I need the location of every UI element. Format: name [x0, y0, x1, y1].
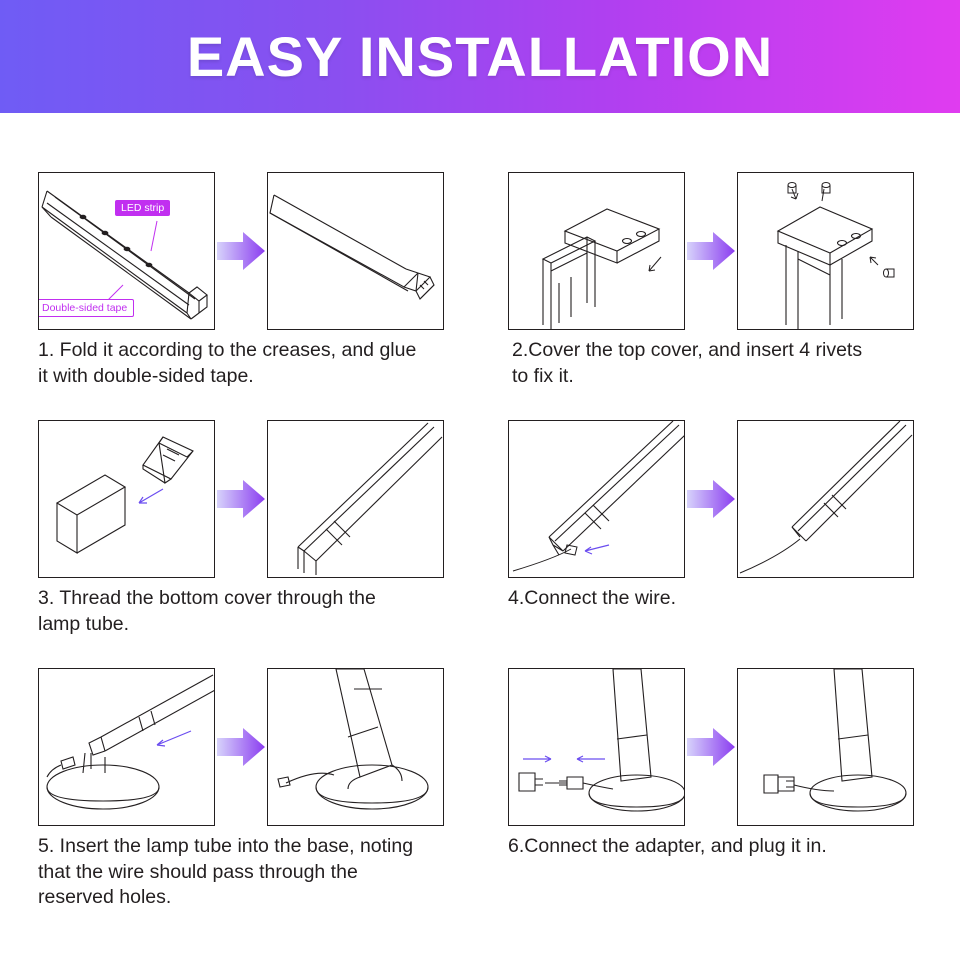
- step-6-image-after: [737, 668, 914, 826]
- step-2-panels: [508, 172, 928, 330]
- step-1-image-after: [267, 172, 444, 330]
- step-4-panels: [508, 420, 928, 578]
- step-5-panels: [38, 668, 458, 826]
- step-1-caption: 1. Fold it according to the creases, and…: [38, 338, 458, 389]
- step-6-arrow: [685, 668, 737, 826]
- step-4-caption: 4.Connect the wire.: [508, 586, 928, 612]
- step-3-image-after: [267, 420, 444, 578]
- steps-grid: LED strip Double-sided tape: [0, 113, 960, 960]
- step-4-arrow: [685, 420, 737, 578]
- step-3-arrow: [215, 420, 267, 578]
- step-5-image-before: [38, 668, 215, 826]
- step-1-image-before: LED strip Double-sided tape: [38, 172, 215, 330]
- wire-insert-illustration: [509, 421, 684, 577]
- step-2-arrow: [685, 172, 737, 330]
- assembled-channel-illustration: [268, 173, 443, 329]
- page-title: EASY INSTALLATION: [187, 24, 773, 89]
- step-5-image-after: [267, 668, 444, 826]
- step-5-arrow: [215, 668, 267, 826]
- step-6-panels: [508, 668, 928, 826]
- step-2-image-after: [737, 172, 914, 330]
- top-cover-illustration: [509, 173, 684, 329]
- wire-connected-illustration: [738, 421, 913, 577]
- step-1: LED strip Double-sided tape: [38, 172, 458, 389]
- step-4-image-after: [737, 420, 914, 578]
- step-3-image-before: [38, 420, 215, 578]
- adapter-connect-illustration: [509, 669, 684, 825]
- arrow-right-icon: [685, 478, 737, 520]
- plugged-in-illustration: [738, 669, 913, 825]
- arrow-right-icon: [215, 230, 267, 272]
- step-1-arrow: [215, 172, 267, 330]
- installation-guide-page: EASY INSTALLATION: [0, 0, 960, 960]
- arrow-right-icon: [215, 478, 267, 520]
- step-2-image-before: [508, 172, 685, 330]
- bottom-cover-illustration: [39, 421, 214, 577]
- step-6: 6.Connect the adapter, and plug it in.: [508, 668, 928, 860]
- arrow-right-icon: [685, 230, 737, 272]
- step-5-caption: 5. Insert the lamp tube into the base, n…: [38, 834, 458, 911]
- arrow-right-icon: [685, 726, 737, 768]
- assembled-lamp-illustration: [268, 669, 443, 825]
- step-6-image-before: [508, 668, 685, 826]
- led-strip-label: LED strip: [115, 200, 170, 216]
- step-3: 3. Thread the bottom cover through the l…: [38, 420, 458, 637]
- header-banner: EASY INSTALLATION: [0, 0, 960, 113]
- step-4-image-before: [508, 420, 685, 578]
- step-6-caption: 6.Connect the adapter, and plug it in.: [508, 834, 928, 860]
- step-2: 2.Cover the top cover, and insert 4 rive…: [508, 172, 928, 389]
- arrow-right-icon: [215, 726, 267, 768]
- tube-and-base-illustration: [39, 669, 214, 825]
- double-sided-tape-label: Double-sided tape: [38, 299, 134, 317]
- step-1-panels: LED strip Double-sided tape: [38, 172, 458, 330]
- step-3-caption: 3. Thread the bottom cover through the l…: [38, 586, 458, 637]
- riveted-cover-illustration: [738, 173, 913, 329]
- step-2-caption: 2.Cover the top cover, and insert 4 rive…: [508, 338, 928, 389]
- threaded-tube-illustration: [268, 421, 443, 577]
- step-4: 4.Connect the wire.: [508, 420, 928, 612]
- step-5: 5. Insert the lamp tube into the base, n…: [38, 668, 458, 911]
- step-3-panels: [38, 420, 458, 578]
